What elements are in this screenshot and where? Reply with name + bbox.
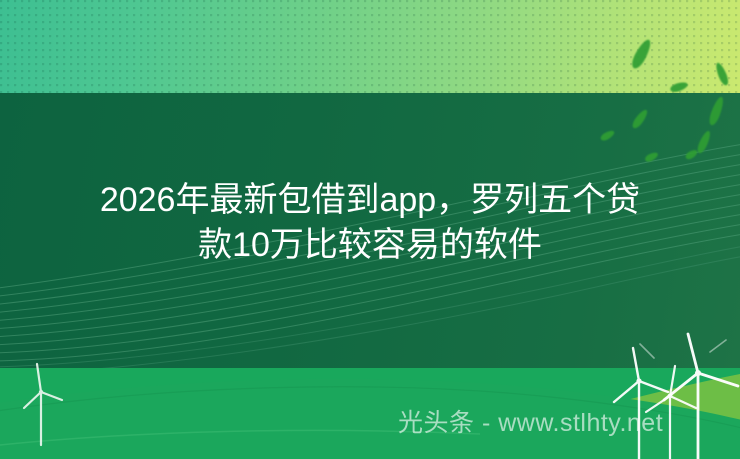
halftone-dot-texture xyxy=(0,0,740,93)
page-title: 2026年最新包借到app，罗列五个贷 款10万比较容易的软件 xyxy=(0,178,740,268)
promo-poster: 2026年最新包借到app，罗列五个贷 款10万比较容易的软件 光头条 - ww… xyxy=(0,0,740,459)
title-line-1: 2026年最新包借到app，罗列五个贷 xyxy=(44,178,696,223)
watermark-text: 光头条 - www.stlhty.net xyxy=(398,408,663,438)
title-line-2: 款10万比较容易的软件 xyxy=(44,223,696,268)
